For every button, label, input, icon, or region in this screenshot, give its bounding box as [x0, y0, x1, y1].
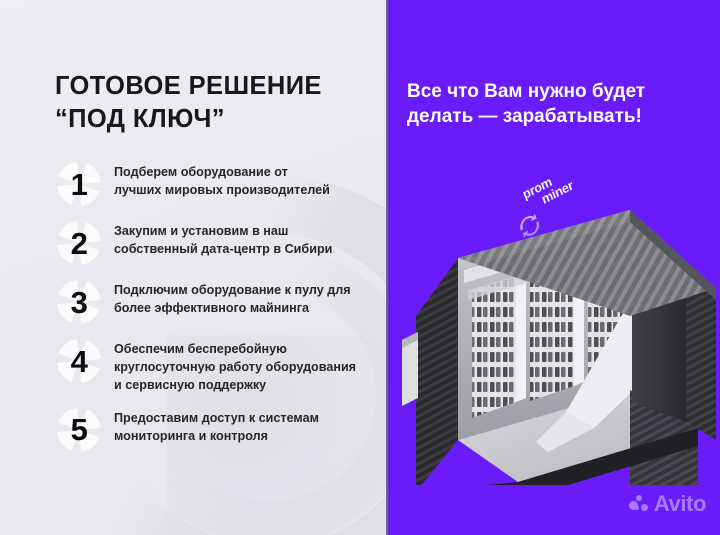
list-item: 1 Подберем оборудование от лучших мировы… [55, 160, 385, 208]
list-item: 2 Закупим и установим в наш собственный … [55, 219, 385, 267]
avito-watermark: Avito [629, 491, 706, 517]
step-text: Закупим и установим в наш собственный да… [103, 219, 385, 259]
step-badge: 2 [55, 219, 103, 267]
step-text: Подберем оборудование от лучших мировых … [103, 160, 385, 200]
list-item: 5 Предоставим доступ к системам монитори… [55, 406, 385, 454]
left-panel: ГОТОВОЕ РЕШЕНИЕ “ПОД КЛЮЧ” 1 Подберем об… [0, 0, 386, 535]
step-badge: 5 [55, 406, 103, 454]
step-number: 3 [71, 287, 88, 318]
step-number: 5 [71, 414, 88, 445]
mining-container-illustration: prom miner [398, 140, 718, 485]
steps-list: 1 Подберем оборудование от лучших мировы… [55, 160, 385, 454]
step-text: Обеспечим бесперебойную круглосуточную р… [103, 337, 385, 395]
right-panel: Все что Вам нужно будет делать — зарабат… [390, 0, 720, 535]
step-number: 2 [71, 228, 88, 259]
step-text: Подключим оборудование к пулу для более … [103, 278, 385, 318]
step-badge: 1 [55, 160, 103, 208]
list-item: 3 Подключим оборудование к пулу для боле… [55, 278, 385, 326]
step-number: 4 [71, 346, 88, 377]
promo-headline: Все что Вам нужно будет делать — зарабат… [407, 80, 707, 129]
avito-brand-text: Avito [654, 491, 706, 517]
list-item: 4 Обеспечим бесперебойную круглосуточную… [55, 337, 385, 395]
step-text: Предоставим доступ к системам мониторинг… [103, 406, 385, 446]
step-number: 1 [71, 169, 88, 200]
promo-poster: ГОТОВОЕ РЕШЕНИЕ “ПОД КЛЮЧ” 1 Подберем об… [0, 0, 720, 535]
step-badge: 3 [55, 278, 103, 326]
avito-dots-logo-icon [629, 495, 649, 513]
page-title: ГОТОВОЕ РЕШЕНИЕ “ПОД КЛЮЧ” [55, 70, 375, 135]
step-badge: 4 [55, 337, 103, 385]
